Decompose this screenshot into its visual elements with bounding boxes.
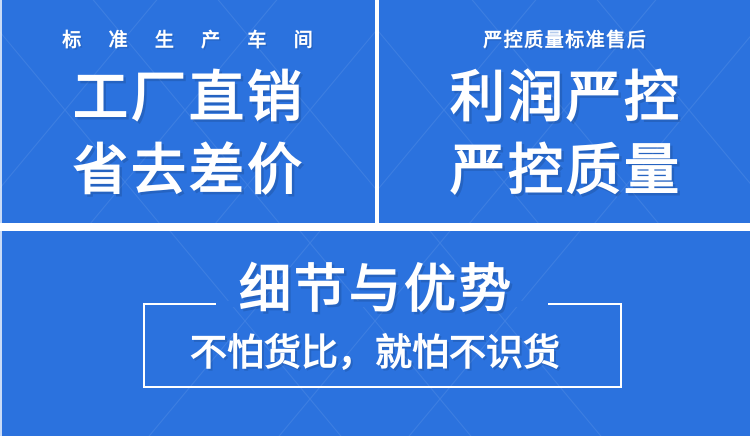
panel-left-eyebrow: 标 准 生 产 车 间 xyxy=(51,31,323,50)
bottom-edge-strip xyxy=(0,436,750,440)
panel-left-headline-line2: 省去差价 xyxy=(70,143,305,198)
panel-quality-control-content: 严控质量标准售后 利润严控 严控质量 xyxy=(379,0,750,223)
promo-banner: 标 准 生 产 车 间 工厂直销 省去差价 严控质量标准售后 利润严控 xyxy=(0,0,750,440)
bottom-panel-subtitle: 不怕货比，就怕不识货 xyxy=(0,334,750,371)
panel-right-headline-line2: 严控质量 xyxy=(447,143,682,198)
panel-left-headline-line1: 工厂直销 xyxy=(70,70,305,125)
left-edge-strip xyxy=(0,0,2,440)
panel-quality-control: 严控质量标准售后 利润严控 严控质量 xyxy=(379,0,750,223)
panel-factory-direct: 标 准 生 产 车 间 工厂直销 省去差价 xyxy=(0,0,375,223)
panel-right-eyebrow: 严控质量标准售后 xyxy=(482,31,648,50)
panel-factory-direct-content: 标 准 生 产 车 间 工厂直销 省去差价 xyxy=(0,0,375,223)
panel-right-headline-line1: 利润严控 xyxy=(447,70,682,125)
top-panel-row: 标 准 生 产 车 间 工厂直销 省去差价 严控质量标准售后 利润严控 xyxy=(0,0,750,223)
bottom-panel-title: 细节与优势 xyxy=(0,264,750,316)
panel-details-advantages: 细节与优势 不怕货比，就怕不识货 xyxy=(0,231,750,436)
